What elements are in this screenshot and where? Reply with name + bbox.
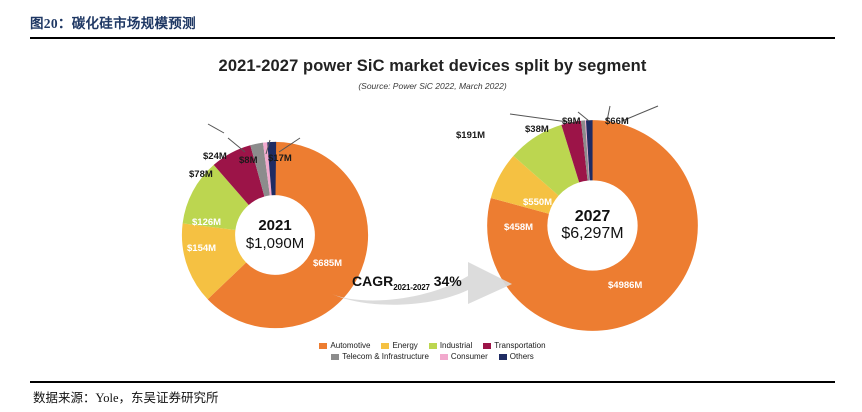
figure-header: 图20：碳化硅市场规模预测	[30, 12, 830, 32]
label-2021-industrial: $126M	[192, 217, 221, 228]
legend-swatch-industrial	[429, 343, 437, 349]
legend-item-others[interactable]: Others	[499, 352, 534, 363]
label-2027-telecom: $38M	[525, 124, 549, 135]
leader-lines-2021	[150, 100, 380, 190]
label-2027-energy: $458M	[504, 222, 533, 233]
label-2027-automotive: $4986M	[608, 280, 642, 291]
legend-label-telecom: Telecom & Infrastructure	[342, 352, 429, 363]
figure-title: 图20：碳化硅市场规模预测	[30, 12, 830, 32]
header-divider	[30, 37, 835, 39]
chart-legend: Automotive Energy Industrial Transportat…	[30, 341, 835, 363]
legend-label-others: Others	[510, 352, 534, 363]
legend-swatch-transportation	[483, 343, 491, 349]
chart-title: 2021-2027 power SiC market devices split…	[30, 57, 835, 76]
label-2027-others: $66M	[605, 116, 629, 127]
legend-swatch-telecom	[331, 354, 339, 360]
legend-item-transportation[interactable]: Transportation	[483, 341, 545, 352]
label-2027-transportation: $191M	[456, 130, 485, 141]
cagr-period: 2021-2027	[393, 283, 429, 292]
legend-row-1: Automotive Energy Industrial Transportat…	[30, 341, 835, 352]
label-2021-consumer: $8M	[239, 155, 257, 166]
figure-source-note: 数据来源：Yole，东吴证券研究所	[33, 387, 219, 406]
label-2027-industrial: $550M	[523, 197, 552, 208]
legend-swatch-consumer	[440, 354, 448, 360]
legend-label-transportation: Transportation	[494, 341, 545, 352]
legend-item-industrial[interactable]: Industrial	[429, 341, 472, 352]
legend-swatch-others	[499, 354, 507, 360]
legend-row-2: Telecom & Infrastructure Consumer Others	[30, 352, 835, 363]
legend-item-automotive[interactable]: Automotive	[319, 341, 370, 352]
legend-label-energy: Energy	[392, 341, 417, 352]
chart-panel: 2021-2027 power SiC market devices split…	[30, 45, 835, 375]
cagr-value: 34%	[434, 273, 462, 289]
label-2021-transportation: $78M	[189, 169, 213, 180]
cagr-label: CAGR	[352, 273, 393, 289]
chart-source-note: (Source: Power SiC 2022, March 2022)	[30, 81, 835, 91]
label-2021-energy: $154M	[187, 243, 216, 254]
label-2027-consumer: $9M	[562, 116, 580, 127]
legend-swatch-automotive	[319, 343, 327, 349]
cagr-annotation: CAGR2021-202734%	[352, 273, 462, 292]
legend-item-consumer[interactable]: Consumer	[440, 352, 488, 363]
legend-label-automotive: Automotive	[330, 341, 370, 352]
legend-label-consumer: Consumer	[451, 352, 488, 363]
legend-swatch-energy	[381, 343, 389, 349]
label-2021-others: $17M	[268, 153, 292, 164]
legend-label-industrial: Industrial	[440, 341, 472, 352]
label-2021-telecom: $24M	[203, 151, 227, 162]
legend-item-energy[interactable]: Energy	[381, 341, 417, 352]
footer-divider	[30, 381, 835, 383]
legend-item-telecom[interactable]: Telecom & Infrastructure	[331, 352, 429, 363]
figure-page: 图20：碳化硅市场规模预测 2021-2027 power SiC market…	[0, 0, 862, 412]
